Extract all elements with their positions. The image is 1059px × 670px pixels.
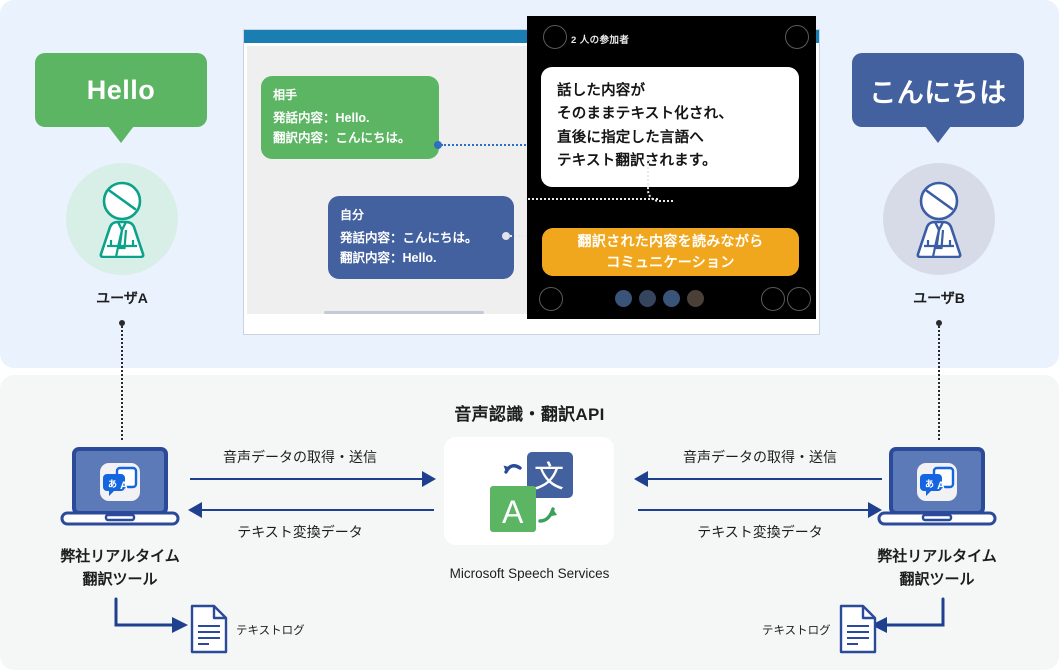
diagram-canvas: Hello ユーザA こんにちは xyxy=(0,0,1059,670)
speech-bubble-user-b: こんにちは xyxy=(852,53,1024,127)
document-icon xyxy=(838,604,878,654)
communication-action-banner[interactable]: 翻訳された内容を読みながら コミュニケーション xyxy=(542,228,799,276)
speech-bubble-tail xyxy=(108,126,134,143)
callout-line-3: 直後に指定した言語へ xyxy=(557,127,783,150)
svg-text:A: A xyxy=(937,480,945,492)
app-bottom-bar xyxy=(247,314,529,333)
control-dot-icon[interactable] xyxy=(663,290,680,307)
chat-sender-name: 相手 xyxy=(273,86,427,106)
chat-sender-name: 自分 xyxy=(340,206,502,226)
arrow-right-in-head xyxy=(868,502,882,518)
control-dot-icon[interactable] xyxy=(615,290,632,307)
tool-left-label: 弊社リアルタイム 翻訳ツール xyxy=(15,545,225,592)
control-dot-icon[interactable] xyxy=(639,290,656,307)
document-icon xyxy=(189,604,229,654)
speech-bubble-tail xyxy=(925,126,951,143)
participant-ring-icon xyxy=(543,25,567,49)
banner-line-2: コミュニケーション xyxy=(606,252,734,273)
chat-spoken-text: 発話内容：Hello. xyxy=(273,108,427,129)
participant-ring-icon xyxy=(785,25,809,49)
avatar-user-b xyxy=(883,163,995,275)
person-avatar-icon xyxy=(902,180,976,258)
callout-dotted-line xyxy=(525,198,658,200)
tool-right-label-line1: 弊社リアルタイム xyxy=(832,545,1042,568)
video-call-pane: 2 人の参加者 話した内容が そのままテキスト化され、 直後に指定した言語へ テ… xyxy=(527,16,816,319)
arrow-right-out-head xyxy=(634,471,648,487)
api-subtitle: Microsoft Speech Services xyxy=(397,566,662,581)
log-label-left: テキストログ xyxy=(236,622,305,638)
user-a-label: ユーザA xyxy=(32,288,212,308)
svg-text:A: A xyxy=(502,494,524,530)
banner-line-1: 翻訳された内容を読みながら xyxy=(578,231,764,252)
arrow-left-out-line xyxy=(190,478,424,480)
control-dot-icon[interactable] xyxy=(687,290,704,307)
speech-bubble-user-a-text: Hello xyxy=(87,75,156,106)
log-label-right: テキストログ xyxy=(762,622,831,638)
control-ring-icon[interactable] xyxy=(539,287,563,311)
control-ring-icon[interactable] xyxy=(761,287,785,311)
arrow-left-out-head xyxy=(422,471,436,487)
api-title: 音声認識・翻訳API xyxy=(397,400,662,425)
control-ring-icon[interactable] xyxy=(787,287,811,311)
speech-bubble-user-a: Hello xyxy=(35,53,207,127)
connector-line-left xyxy=(121,322,125,440)
chat-translated-text: 翻訳内容：こんにちは。 xyxy=(273,128,427,149)
speech-bubble-user-b-text: こんにちは xyxy=(869,71,1007,110)
arrow-label-right-in: テキスト変換データ xyxy=(610,522,910,542)
avatar-user-a xyxy=(66,163,178,275)
arrow-label-right-out: 音声データの取得・送信 xyxy=(610,447,910,467)
svg-text:あ: あ xyxy=(108,479,117,490)
arrow-left-in-line xyxy=(202,509,434,511)
arrow-label-left-in: テキスト変換データ xyxy=(150,522,450,542)
chat-message-outgoing: 自分 発話内容：こんにちは。 翻訳内容：Hello. xyxy=(328,196,514,279)
arrow-left-in-head xyxy=(188,502,202,518)
callout-anchor-dot-blue xyxy=(502,232,510,240)
chat-spoken-text: 発話内容：こんにちは。 xyxy=(340,228,502,249)
arrow-label-left-out: 音声データの取得・送信 xyxy=(150,447,450,467)
translate-icon: 文 A xyxy=(476,449,586,539)
tool-right-label-line2: 翻訳ツール xyxy=(832,568,1042,591)
person-avatar-icon xyxy=(85,180,159,258)
svg-text:A: A xyxy=(120,480,128,492)
callout-line-1: 話した内容が xyxy=(557,80,783,103)
svg-text:文: 文 xyxy=(534,460,564,495)
chat-message-incoming: 相手 発話内容：Hello. 翻訳内容：こんにちは。 xyxy=(261,76,439,159)
api-box: 文 A xyxy=(444,437,614,545)
user-b-label: ユーザB xyxy=(849,288,1029,308)
tool-left-label-line2: 翻訳ツール xyxy=(15,568,225,591)
participants-count-label: 2 人の参加者 xyxy=(571,32,629,46)
arrow-right-in-line xyxy=(638,509,870,511)
tool-right-label: 弊社リアルタイム 翻訳ツール xyxy=(832,545,1042,592)
callout-dotted-elbow xyxy=(647,158,673,202)
callout-line-2: そのままテキスト化され、 xyxy=(557,103,783,126)
chat-translated-text: 翻訳内容：Hello. xyxy=(340,248,502,269)
svg-text:あ: あ xyxy=(925,479,934,490)
tool-left-label-line1: 弊社リアルタイム xyxy=(15,545,225,568)
arrow-right-out-line xyxy=(648,478,882,480)
connector-line-right xyxy=(938,322,942,440)
